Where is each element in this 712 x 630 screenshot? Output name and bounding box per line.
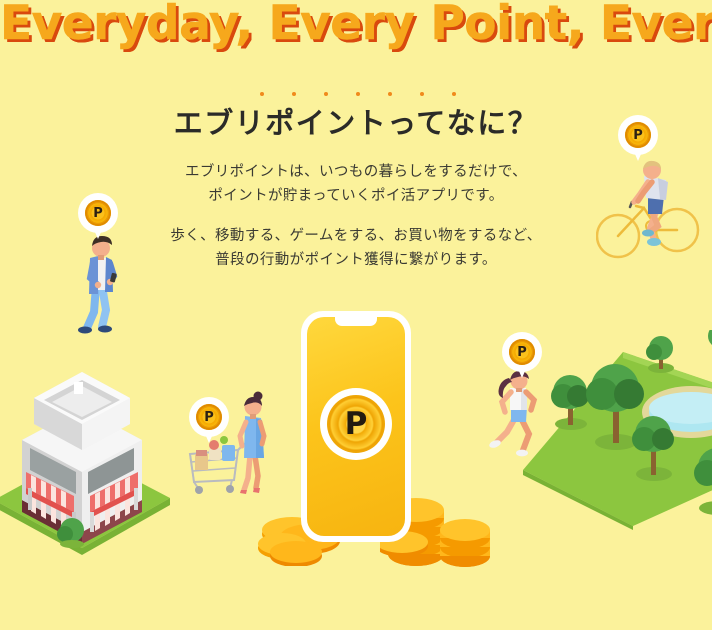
app-coin-badge: P bbox=[320, 388, 392, 460]
pin-coin-icon: P bbox=[625, 122, 651, 148]
pin-runner: P bbox=[502, 332, 542, 380]
smartphone-mockup: P bbox=[301, 311, 411, 542]
landing-illustration: Everyday, Every Point, Every Earn エブリポイン… bbox=[0, 0, 712, 630]
shop-building-scene bbox=[0, 372, 180, 582]
emphasis-dots bbox=[0, 92, 712, 104]
pin-shopper: P bbox=[189, 397, 229, 445]
pin-cyclist: P bbox=[618, 115, 658, 163]
coin-p-icon: P bbox=[327, 395, 385, 453]
phone-screen: P bbox=[307, 317, 405, 536]
phone-notch bbox=[335, 317, 377, 326]
section-heading-block: エブリポイントってなに？ bbox=[0, 92, 712, 141]
section-heading: エブリポイントってなに？ bbox=[0, 105, 712, 141]
page-title: Everyday, Every Point, Every Earn bbox=[0, 0, 712, 52]
pin-coin-icon: P bbox=[85, 200, 111, 226]
pin-walker: P bbox=[78, 193, 118, 241]
pin-coin-icon: P bbox=[196, 404, 222, 430]
pin-coin-icon: P bbox=[509, 339, 535, 365]
cyclist-on-bicycle bbox=[596, 160, 701, 265]
walking-man-with-phone bbox=[72, 228, 132, 338]
running-woman bbox=[485, 370, 560, 462]
